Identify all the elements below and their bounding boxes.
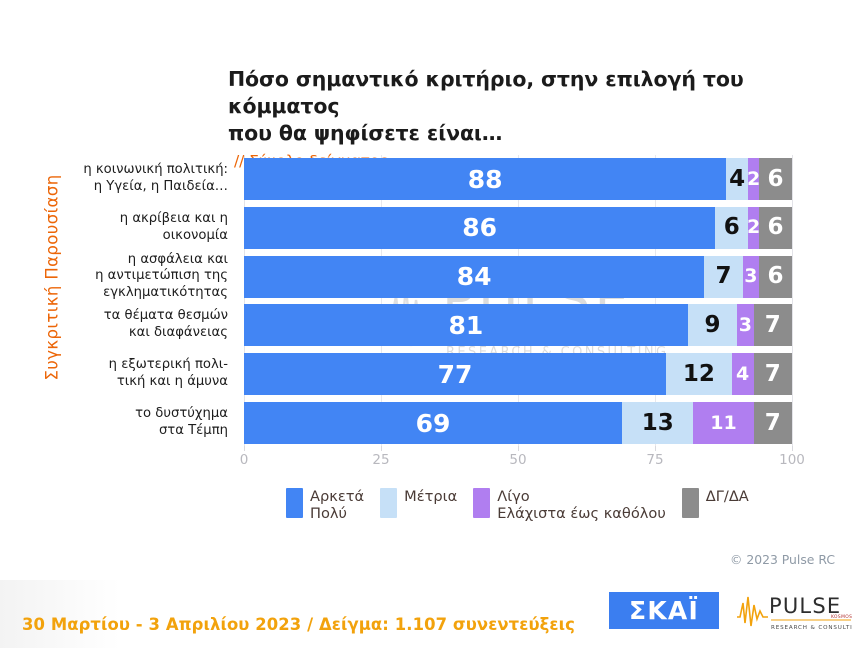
svg-text:RESEARCH & CONSULTING: RESEARCH & CONSULTING xyxy=(771,625,853,631)
bar-rows: 884268662684736819377712476913117 xyxy=(244,158,792,444)
copyright-notice: © 2023 Pulse RC xyxy=(730,552,835,567)
axis-tick-label: 0 xyxy=(240,452,249,468)
legend-label: Μέτρια xyxy=(404,487,457,505)
axis-tick-label: 100 xyxy=(779,452,805,468)
bar-value-label: 81 xyxy=(449,313,484,338)
legend-label: Λίγο Ελάχιστα έως καθόλου xyxy=(497,487,666,522)
legend-label: Αρκετά Πολύ xyxy=(310,487,364,522)
bar-value-label: 77 xyxy=(438,362,473,387)
legend-swatch xyxy=(682,488,699,518)
bar-segment[interactable]: 6 xyxy=(759,207,792,249)
category-label: το δυστύχημα στα Τέμπη xyxy=(60,406,228,440)
bar-value-label: 11 xyxy=(710,414,736,433)
bar-value-label: 86 xyxy=(462,215,497,240)
bar-segment[interactable]: 12 xyxy=(666,353,732,395)
bar-segment[interactable]: 3 xyxy=(737,304,753,346)
legend-item[interactable]: Μέτρια xyxy=(380,487,457,518)
skai-logo: ΣΚΑΪ xyxy=(609,592,719,629)
plot-area: PULSE KOSMOS RESEARCH & CONSULTING 88426… xyxy=(244,158,792,444)
bar-row[interactable]: 86626 xyxy=(244,207,792,249)
bar-segment[interactable]: 2 xyxy=(748,207,759,249)
bar-value-label: 3 xyxy=(739,316,752,335)
axis-tick-mark xyxy=(518,446,519,451)
bar-value-label: 12 xyxy=(683,363,715,386)
bar-value-label: 2 xyxy=(748,170,759,189)
bar-value-label: 13 xyxy=(642,412,674,435)
legend-label: ΔΓ/ΔΑ xyxy=(706,487,749,505)
pulse-logo: PULSE KOSMOS RESEARCH & CONSULTING xyxy=(735,590,853,632)
bar-segment[interactable]: 9 xyxy=(688,304,737,346)
bar-segment[interactable]: 4 xyxy=(726,158,748,200)
bar-segment[interactable]: 7 xyxy=(754,353,792,395)
bar-segment[interactable]: 7 xyxy=(704,256,742,298)
category-label: τα θέματα θεσμών και διαφάνειας xyxy=(60,308,228,342)
legend-item[interactable]: Λίγο Ελάχιστα έως καθόλου xyxy=(473,487,666,522)
legend-swatch xyxy=(286,488,303,518)
bar-segment[interactable]: 77 xyxy=(244,353,666,395)
bar-segment[interactable]: 81 xyxy=(244,304,688,346)
bar-segment[interactable]: 7 xyxy=(754,402,792,444)
legend-item[interactable]: Αρκετά Πολύ xyxy=(286,487,364,522)
bar-row[interactable]: 6913117 xyxy=(244,402,792,444)
vertical-section-label: Συγκριτική Παρουσίαση xyxy=(43,163,62,393)
axis-tick-mark xyxy=(792,446,793,451)
category-axis-labels: η κοινωνική πολιτική: η Υγεία, η Παιδεία… xyxy=(60,158,236,444)
bar-segment[interactable]: 4 xyxy=(732,353,754,395)
bar-value-label: 3 xyxy=(744,267,757,286)
axis-tick-label: 50 xyxy=(509,452,526,468)
category-label: η ασφάλεια και η αντιμετώπιση της εγκλημ… xyxy=(60,252,228,302)
skai-logo-text: ΣΚΑΪ xyxy=(629,598,699,623)
bar-value-label: 7 xyxy=(765,363,781,386)
bar-value-label: 6 xyxy=(768,265,784,288)
category-label: η κοινωνική πολιτική: η Υγεία, η Παιδεία… xyxy=(60,162,228,196)
bar-value-label: 69 xyxy=(416,411,451,436)
bar-row[interactable]: 88426 xyxy=(244,158,792,200)
bar-segment[interactable]: 6 xyxy=(759,158,792,200)
category-label: η ακρίβεια και η οικονομία xyxy=(60,211,228,245)
bar-value-label: 7 xyxy=(765,412,781,435)
bar-segment[interactable]: 3 xyxy=(743,256,759,298)
x-axis: 0255075100 xyxy=(244,446,792,470)
footer-fieldwork-text: 30 Μαρτίου - 3 Απριλίου 2023 / Δείγμα: 1… xyxy=(22,615,575,634)
page-title: Πόσο σημαντικό κριτήριο, στην επιλογή το… xyxy=(228,66,828,147)
bar-value-label: 7 xyxy=(765,314,781,337)
bar-value-label: 4 xyxy=(729,168,745,191)
bar-value-label: 2 xyxy=(748,218,759,237)
bar-value-label: 84 xyxy=(457,264,492,289)
bar-segment[interactable]: 11 xyxy=(693,402,753,444)
axis-tick-mark xyxy=(244,446,245,451)
bar-segment[interactable]: 69 xyxy=(244,402,622,444)
bar-segment[interactable]: 84 xyxy=(244,256,704,298)
legend: Αρκετά ΠολύΜέτριαΛίγο Ελάχιστα έως καθόλ… xyxy=(286,487,749,522)
axis-tick-mark xyxy=(381,446,382,451)
title-block: Πόσο σημαντικό κριτήριο, στην επιλογή το… xyxy=(228,66,828,170)
bar-segment[interactable]: 86 xyxy=(244,207,715,249)
legend-item[interactable]: ΔΓ/ΔΑ xyxy=(682,487,749,518)
bar-value-label: 6 xyxy=(768,216,784,239)
bar-value-label: 9 xyxy=(705,314,721,337)
bar-segment[interactable]: 6 xyxy=(759,256,792,298)
bar-value-label: 4 xyxy=(736,365,749,384)
axis-tick-label: 75 xyxy=(646,452,663,468)
bar-segment[interactable]: 88 xyxy=(244,158,726,200)
bar-row[interactable]: 771247 xyxy=(244,353,792,395)
chart-canvas: Πόσο σημαντικό κριτήριο, στην επιλογή το… xyxy=(0,0,868,648)
legend-swatch xyxy=(380,488,397,518)
bar-value-label: 6 xyxy=(768,168,784,191)
bar-row[interactable]: 84736 xyxy=(244,256,792,298)
legend-swatch xyxy=(473,488,490,518)
bar-segment[interactable]: 13 xyxy=(622,402,693,444)
axis-tick-label: 25 xyxy=(372,452,389,468)
category-label: η εξωτερική πολι- τική και η άμυνα xyxy=(60,357,228,391)
bar-segment[interactable]: 6 xyxy=(715,207,748,249)
bar-segment[interactable]: 2 xyxy=(748,158,759,200)
svg-text:KOSMOS: KOSMOS xyxy=(831,614,852,620)
bar-row[interactable]: 81937 xyxy=(244,304,792,346)
axis-tick-mark xyxy=(655,446,656,451)
bar-segment[interactable]: 7 xyxy=(754,304,792,346)
bar-value-label: 88 xyxy=(468,167,503,192)
bar-value-label: 6 xyxy=(724,216,740,239)
gridline xyxy=(792,155,793,448)
bar-value-label: 7 xyxy=(715,265,731,288)
